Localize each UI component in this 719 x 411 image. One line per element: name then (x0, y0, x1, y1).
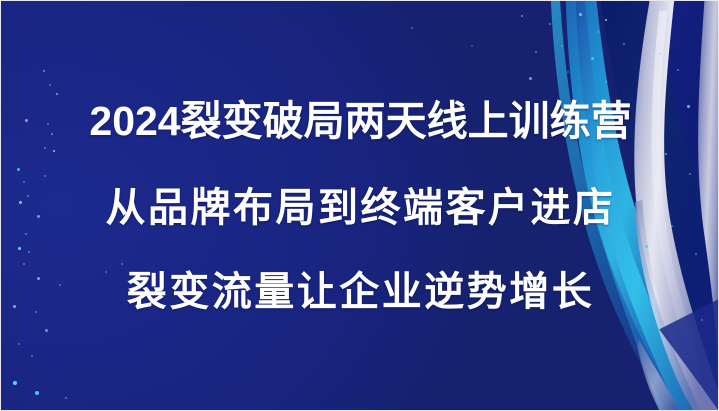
promo-banner: 2024裂变破局两天线上训练营 从品牌布局到终端客户进店 裂变流量让企业逆势增长 (0, 0, 719, 411)
ribbon-decoration (1, 1, 718, 410)
